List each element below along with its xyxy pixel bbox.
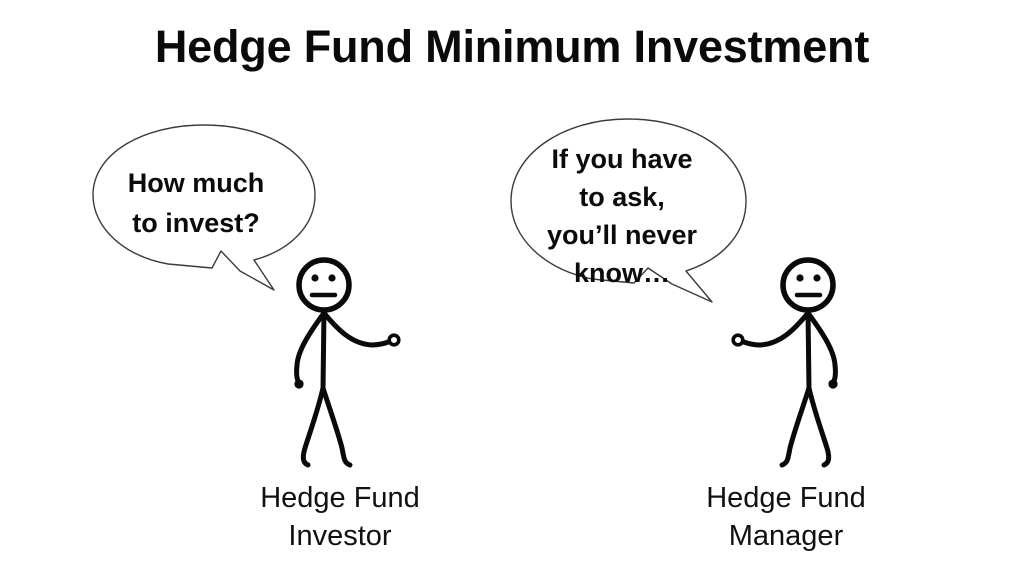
page-title: Hedge Fund Minimum Investment: [0, 18, 1024, 76]
eye-right-dot: [328, 274, 335, 281]
arm-left-line: [297, 313, 324, 383]
leg-right-line: [323, 388, 350, 465]
stick-figure-investor-drawing: [272, 240, 432, 475]
stick-figure-investor: [272, 240, 432, 475]
hand-right-ring: [389, 335, 399, 345]
arm-right-line: [324, 313, 391, 345]
leg-left-line: [303, 388, 323, 465]
head-outline: [783, 260, 833, 310]
stick-figure-manager-drawing: [700, 240, 860, 475]
leg-right-line: [809, 388, 829, 465]
eye-right-dot: [813, 274, 820, 281]
hand-left-dot: [294, 379, 303, 388]
hand-left-ring: [733, 335, 743, 345]
arm-right-line: [808, 313, 835, 383]
speech-bubble-investor-text: How much to invest?: [80, 163, 312, 243]
arm-left-line: [741, 313, 808, 345]
eye-left-dot: [311, 274, 318, 281]
eye-left-dot: [796, 274, 803, 281]
slide-canvas: Hedge Fund Minimum Investment How much t…: [0, 0, 1024, 576]
caption-manager: Hedge Fund Manager: [666, 479, 906, 555]
leg-left-line: [782, 388, 809, 465]
torso-line: [323, 311, 324, 390]
head-outline: [299, 260, 349, 310]
caption-investor: Hedge Fund Investor: [220, 479, 460, 555]
torso-line: [808, 311, 809, 390]
stick-figure-manager: [700, 240, 860, 475]
hand-right-dot: [828, 379, 837, 388]
